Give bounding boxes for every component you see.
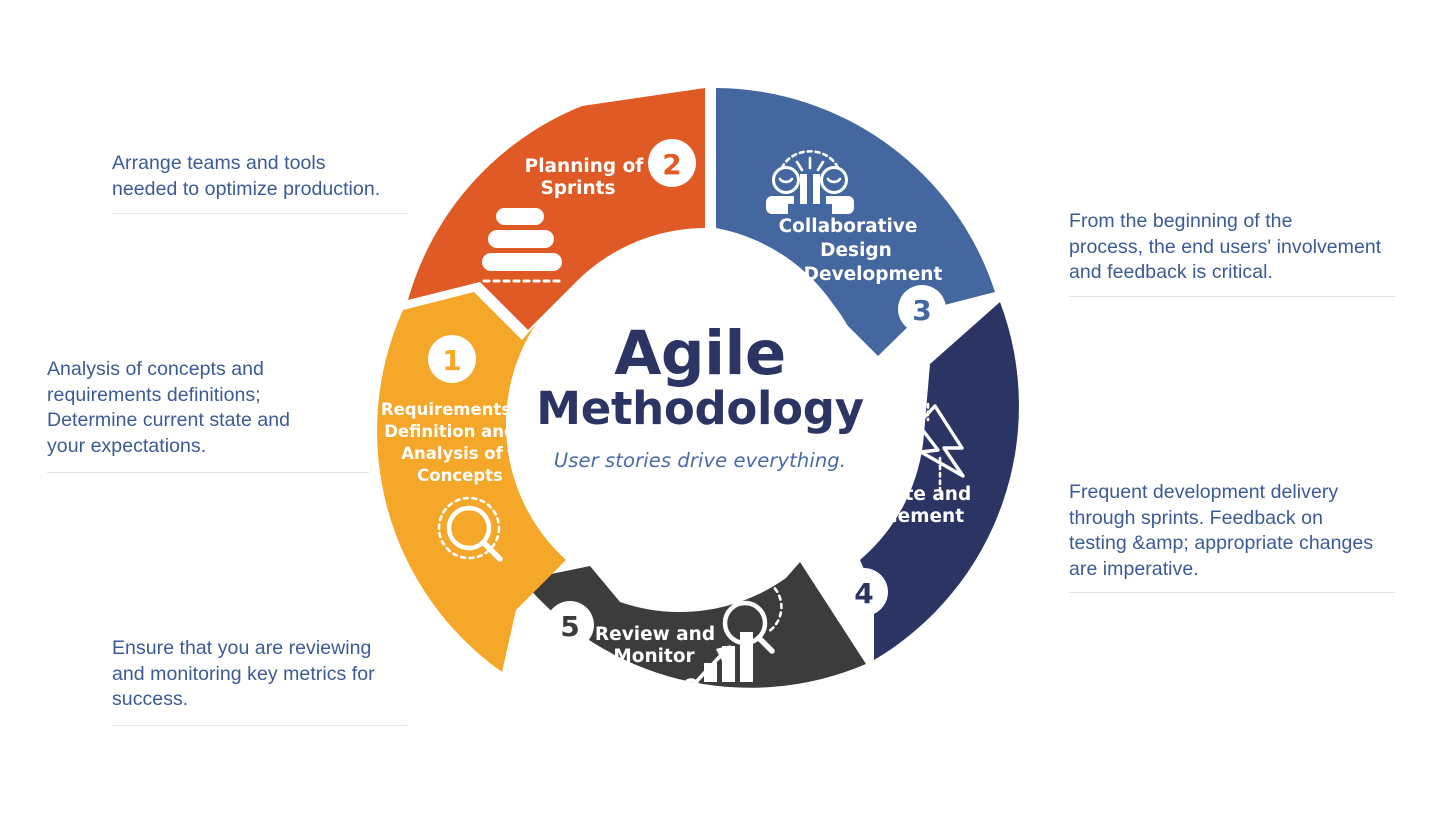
callout-step-1-rule (47, 472, 369, 473)
badge-number-2: 2 (662, 148, 681, 181)
segment-step-1-label-line-4: Concepts (417, 466, 503, 485)
callout-step-4-line-2: through sprints. Feedback on (1069, 506, 1399, 532)
segment-step-5-label-line-1: Review and (595, 624, 715, 645)
callout-step-1: Analysis of concepts and requirements de… (47, 357, 387, 459)
callout-step-5-line-1: Ensure that you are reviewing (112, 636, 442, 662)
badge-number-5: 5 (560, 610, 579, 643)
callout-step-2-line-1: Arrange teams and tools (112, 151, 442, 177)
segment-step-1-label-line-1: Requirements (381, 400, 511, 419)
segment-step-5-label-line-2: Monitor (613, 646, 695, 667)
segment-step-5[interactable]: 5 Review and Monitor (522, 562, 866, 694)
callout-step-4-line-1: Frequent development delivery (1069, 480, 1399, 506)
center-hub (530, 240, 870, 580)
callout-step-2: Arrange teams and tools needed to optimi… (112, 151, 442, 202)
badge-number-3: 3 (912, 294, 931, 327)
callout-step-5-line-3: success. (112, 687, 442, 713)
segment-step-4[interactable]: 4 Create and Implement (840, 302, 1019, 660)
infographic-canvas: 2 Planning of Sprints 3 Collaborative De… (0, 0, 1431, 820)
callout-step-4-line-4: are imperative. (1069, 557, 1399, 583)
callout-step-3-line-3: and feedback is critical. (1069, 260, 1399, 286)
segment-step-3-label-line-2: Design (820, 240, 892, 261)
callout-step-5: Ensure that you are reviewing and monito… (112, 636, 442, 713)
callout-step-3-line-2: process, the end users' involvement (1069, 235, 1399, 261)
segment-step-4-label-line-1: Create and (857, 484, 971, 505)
callout-step-1-line-2: requirements definitions; (47, 383, 387, 409)
callout-step-3-rule (1069, 296, 1396, 297)
segment-step-1-label-line-3: Analysis of (401, 444, 503, 463)
callout-step-1-line-3: Determine current state and (47, 408, 387, 434)
segment-step-3-label-line-3: Development (804, 264, 943, 285)
callout-step-2-line-2: needed to optimize production. (112, 177, 442, 203)
badge-number-4: 4 (854, 577, 873, 610)
segment-step-1[interactable]: 1 Requirements Definition and Analysis o… (377, 292, 566, 672)
callout-step-2-rule (112, 213, 408, 214)
callout-step-4-rule (1069, 592, 1395, 593)
callout-step-5-rule (112, 725, 407, 726)
segment-step-2-label-line-2: Sprints (540, 178, 615, 199)
callout-step-3-line-1: From the beginning of the (1069, 209, 1399, 235)
callout-step-4: Frequent development delivery through sp… (1069, 480, 1399, 582)
segment-step-2-label-line-1: Planning of (525, 156, 645, 177)
callout-step-4-line-3: testing &amp; appropriate changes (1069, 531, 1399, 557)
callout-step-5-line-2: and monitoring key metrics for (112, 662, 442, 688)
callout-step-1-line-4: your expectations. (47, 434, 387, 460)
segment-step-3-label-line-1: Collaborative (779, 216, 918, 237)
callout-step-1-line-1: Analysis of concepts and (47, 357, 387, 383)
segment-step-1-label-line-2: Definition and (384, 422, 516, 441)
segment-step-4-label-line-2: Implement (852, 506, 964, 527)
badge-number-1: 1 (442, 344, 461, 377)
callout-step-3: From the beginning of the process, the e… (1069, 209, 1399, 286)
